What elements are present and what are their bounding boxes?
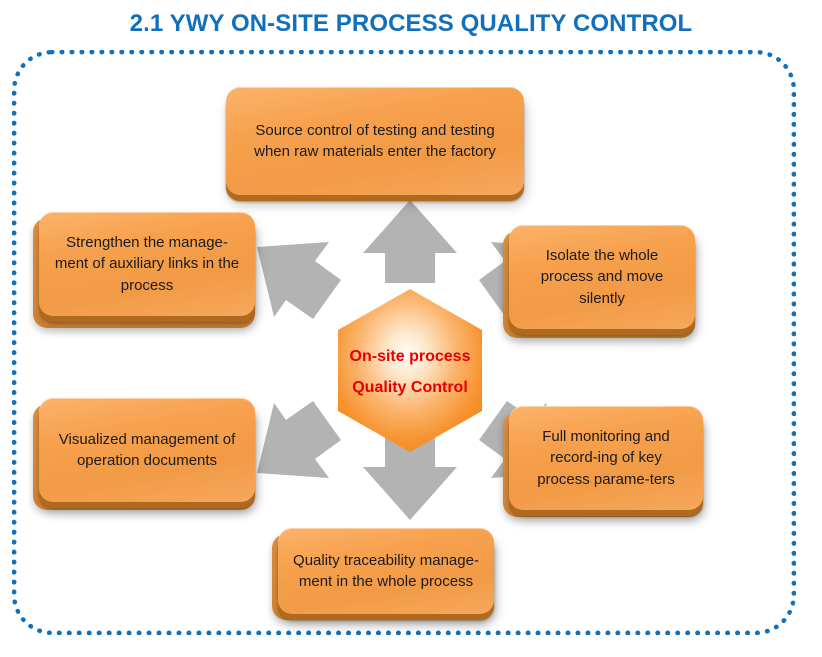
node-box-right-lower[interactable]: Full monitoring and record-ing of key pr… [509,406,703,510]
diagram-canvas: 2.1 YWY ON-SITE PROCESS QUALITY CONTROL [0,0,822,657]
node-box-right-upper[interactable]: Isolate the whole process and move silen… [509,225,695,329]
page-title: 2.1 YWY ON-SITE PROCESS QUALITY CONTROL [0,10,822,38]
arrow-down-left-icon [257,401,341,478]
node-box-left-lower[interactable]: Visualized management of operation docum… [39,398,255,502]
node-box-bottom[interactable]: Quality traceability manage-ment in the … [278,528,494,614]
node-box-right-lower-label: Full monitoring and record-ing of key pr… [523,426,689,490]
node-box-right-upper-label: Isolate the whole process and move silen… [523,245,681,309]
node-box-top-label: Source control of testing and testing wh… [240,120,510,163]
node-box-left-upper-label: Strengthen the manage-ment of auxiliary … [53,232,241,296]
node-box-bottom-label: Quality traceability manage-ment in the … [292,550,480,593]
node-box-top[interactable]: Source control of testing and testing wh… [226,87,524,195]
node-box-left-lower-label: Visualized management of operation docum… [53,429,241,472]
arrow-up-left-icon [257,242,341,319]
node-box-left-upper[interactable]: Strengthen the manage-ment of auxiliary … [39,212,255,316]
center-hexagon [338,289,482,452]
arrow-up-icon [363,200,457,283]
